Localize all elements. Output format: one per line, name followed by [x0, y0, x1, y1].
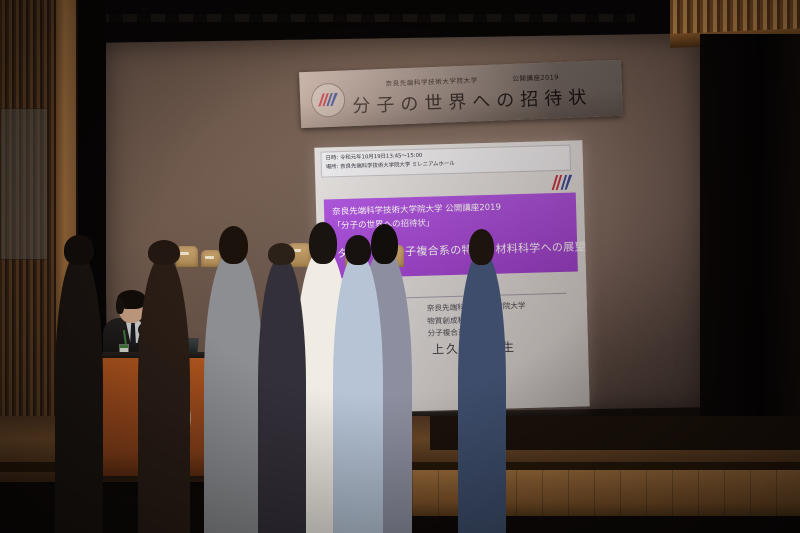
banner-subtitle-university: 奈良先端科学技術大学院大学	[385, 74, 478, 88]
banner-main-title: 分子の世界への招待状	[352, 83, 593, 118]
wall-acoustic-panel	[0, 108, 48, 260]
audience-member-shoulders	[204, 250, 263, 533]
audience-member-head	[309, 222, 337, 264]
seat-number-tag	[180, 252, 189, 255]
audience-member-shoulders	[55, 254, 103, 533]
audience-member-shoulders	[258, 257, 306, 533]
audience-member-head	[219, 226, 248, 264]
audience-member-shoulders	[333, 254, 383, 533]
slide-info-box: 日時: 令和元年10月19日13:45～15:00 場所: 奈良先端科学技術大学…	[320, 145, 571, 178]
slide-title-line1: 奈良先端科学技術大学院大学 公開講座2019	[332, 201, 501, 218]
audience-member-head	[268, 243, 295, 265]
audience-member-head	[64, 235, 94, 265]
lecture-hall-photo: 奈良先端科学技術大学院大学 公開講座2019 分子の世界への招待状 日時: 令和…	[0, 0, 800, 533]
stage-curtain-right	[700, 34, 800, 464]
naist-circular-logo-icon	[310, 82, 345, 117]
seat-number-tag	[205, 256, 214, 259]
audience-member-head	[469, 229, 494, 265]
naist-logo-mark-svg	[318, 93, 338, 107]
audience-member-shoulders	[458, 252, 506, 533]
banner-subtitle-series: 公開講座2019	[512, 71, 559, 83]
lighting-truss	[95, 14, 635, 22]
audience-member-shoulders	[138, 256, 190, 533]
naist-logo-mark-icon	[551, 175, 573, 191]
audience-member-head	[148, 240, 180, 265]
audience-member-head	[345, 235, 371, 265]
audience-member-head	[371, 224, 398, 264]
presenter-hair-side	[116, 298, 124, 314]
badge-color-strip	[120, 345, 128, 348]
